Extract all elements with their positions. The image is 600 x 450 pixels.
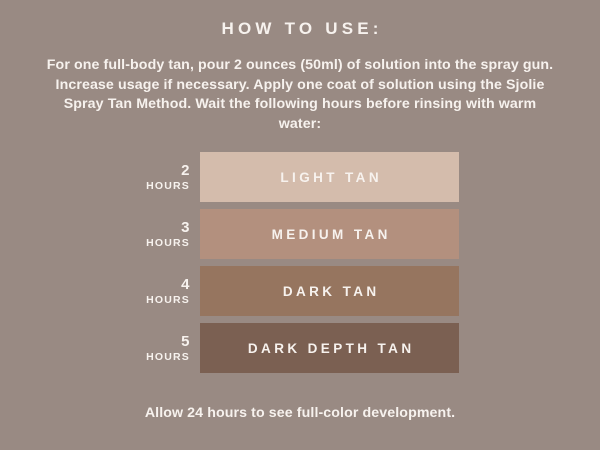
hours-number: 3: [181, 220, 190, 235]
shade-swatch-light-tan: LIGHT TAN: [200, 152, 459, 202]
hours-number: 2: [181, 163, 190, 178]
shade-name: MEDIUM TAN: [268, 227, 391, 242]
hours-unit: HOURS: [145, 238, 190, 249]
shade-swatch-medium-tan: MEDIUM TAN: [200, 209, 459, 259]
hours-label-dark-depth-tan: 5 HOURS: [110, 323, 190, 373]
shade-name: DARK DEPTH TAN: [245, 341, 415, 356]
shade-swatch-dark-tan: DARK TAN: [200, 266, 459, 316]
hours-label-light-tan: 2 HOURS: [110, 152, 190, 202]
hours-number: 4: [181, 277, 190, 292]
shade-row-dark-depth-tan: 5 HOURS DARK DEPTH TAN: [0, 323, 600, 373]
instructions-paragraph: For one full-body tan, pour 2 ounces (50…: [44, 56, 556, 134]
hours-unit: HOURS: [145, 295, 190, 306]
shade-swatch-dark-depth-tan: DARK DEPTH TAN: [200, 323, 459, 373]
hours-number: 5: [181, 334, 190, 349]
shade-list: 2 HOURS LIGHT TAN 3 HOURS MEDIUM TAN 4 H…: [0, 152, 600, 380]
shade-row-dark-tan: 4 HOURS DARK TAN: [0, 266, 600, 316]
shade-name: LIGHT TAN: [277, 170, 382, 185]
hours-unit: HOURS: [145, 181, 190, 192]
hours-label-dark-tan: 4 HOURS: [110, 266, 190, 316]
how-to-use-poster: HOW TO USE: For one full-body tan, pour …: [0, 0, 600, 450]
shade-name: DARK TAN: [279, 284, 379, 299]
shade-row-medium-tan: 3 HOURS MEDIUM TAN: [0, 209, 600, 259]
footer-note: Allow 24 hours to see full-color develop…: [0, 405, 600, 421]
page-title: HOW TO USE:: [0, 18, 600, 40]
shade-row-light-tan: 2 HOURS LIGHT TAN: [0, 152, 600, 202]
hours-unit: HOURS: [145, 352, 190, 363]
hours-label-medium-tan: 3 HOURS: [110, 209, 190, 259]
